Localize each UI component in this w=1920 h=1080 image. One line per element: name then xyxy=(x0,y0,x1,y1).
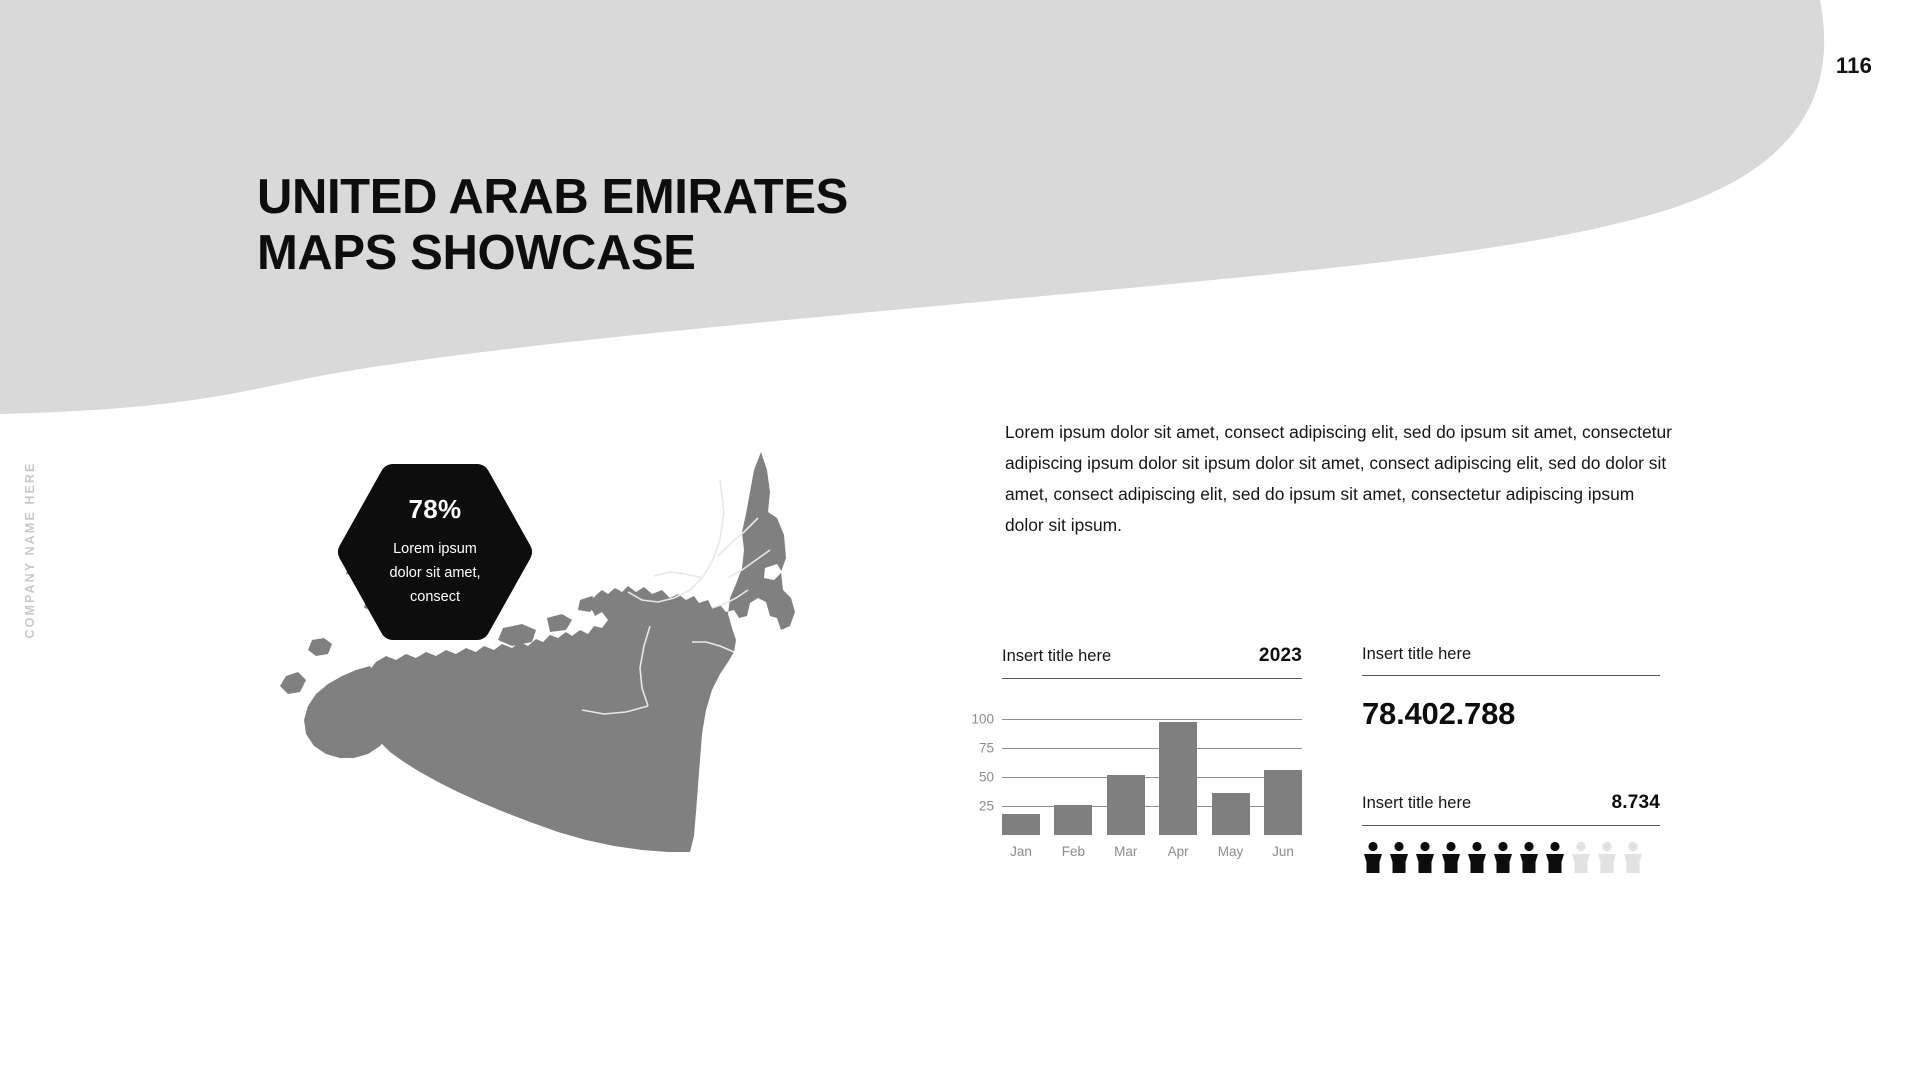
stat-card-title: Insert title here xyxy=(1362,645,1471,664)
y-axis-tick: 75 xyxy=(954,740,994,755)
person-icon-empty xyxy=(1622,841,1644,873)
slide-canvas: 116 COMPANY NAME HERE UNITED ARAB EMIRAT… xyxy=(0,0,1920,1080)
bar-chart-plot: 255075100 xyxy=(1002,707,1302,835)
person-icon-empty xyxy=(1570,841,1592,873)
pictogram-figures xyxy=(1362,841,1660,873)
x-axis-tick: Jan xyxy=(1002,844,1040,859)
bar-chart-title: Insert title here xyxy=(1002,647,1111,666)
bar-column[interactable] xyxy=(1212,707,1250,835)
bar[interactable] xyxy=(1002,814,1040,835)
pictogram-title: Insert title here xyxy=(1362,794,1471,813)
bar[interactable] xyxy=(1107,775,1145,836)
person-icon-filled xyxy=(1492,841,1514,873)
person-icon-filled xyxy=(1414,841,1436,873)
badge-percent: 78% xyxy=(409,494,462,525)
person-icon-filled xyxy=(1362,841,1384,873)
bar-column[interactable] xyxy=(1159,707,1197,835)
stat-card-header: Insert title here xyxy=(1362,645,1660,676)
bar-column[interactable] xyxy=(1054,707,1092,835)
bar[interactable] xyxy=(1264,770,1302,835)
bar-column[interactable] xyxy=(1264,707,1302,835)
person-icon-filled xyxy=(1466,841,1488,873)
title-line-2: MAPS SHOWCASE xyxy=(257,226,848,282)
bar-chart-header: Insert title here 2023 xyxy=(1002,645,1302,679)
x-axis-tick: Feb xyxy=(1054,844,1092,859)
x-axis-tick: Jun xyxy=(1264,844,1302,859)
stat-card[interactable]: Insert title here 78.402.788 xyxy=(1362,645,1660,732)
bar-column[interactable] xyxy=(1002,707,1040,835)
bar-chart-year: 2023 xyxy=(1259,645,1302,667)
page-number: 116 xyxy=(1836,53,1872,79)
bar-chart-card[interactable]: Insert title here 2023 255075100 JanFebM… xyxy=(1002,645,1302,859)
x-axis-tick: Mar xyxy=(1107,844,1145,859)
bar-chart-x-axis: JanFebMarAprMayJun xyxy=(1002,844,1302,859)
pictogram-value: 8.734 xyxy=(1611,792,1660,814)
badge-caption-line-2: dolor sit amet, xyxy=(389,562,480,586)
badge-caption-line-3: consect xyxy=(389,586,480,610)
bar-column[interactable] xyxy=(1107,707,1145,835)
y-axis-tick: 50 xyxy=(954,769,994,784)
page-title: UNITED ARAB EMIRATES MAPS SHOWCASE xyxy=(257,170,848,282)
body-paragraph: Lorem ipsum dolor sit amet, consect adip… xyxy=(1005,417,1673,541)
badge-caption: Lorem ipsum dolor sit amet, consect xyxy=(389,538,480,610)
person-icon-filled xyxy=(1388,841,1410,873)
x-axis-tick: Apr xyxy=(1159,844,1197,859)
badge-caption-line-1: Lorem ipsum xyxy=(389,538,480,562)
y-axis-tick: 25 xyxy=(954,798,994,813)
person-icon-filled xyxy=(1544,841,1566,873)
pictogram-header: Insert title here 8.734 xyxy=(1362,792,1660,826)
bar[interactable] xyxy=(1212,793,1250,835)
company-name-label: COMPANY NAME HERE xyxy=(23,462,37,639)
bar-chart-bars xyxy=(1002,707,1302,835)
bar[interactable] xyxy=(1159,722,1197,835)
person-icon-empty xyxy=(1596,841,1618,873)
y-axis-tick: 100 xyxy=(954,711,994,726)
x-axis-tick: May xyxy=(1212,844,1250,859)
stat-hexagon-badge[interactable]: 78% Lorem ipsum dolor sit amet, consect xyxy=(325,457,545,647)
person-icon-filled xyxy=(1518,841,1540,873)
person-icon-filled xyxy=(1440,841,1462,873)
title-line-1: UNITED ARAB EMIRATES xyxy=(257,170,848,226)
company-name-rail: COMPANY NAME HERE xyxy=(0,430,60,670)
bar[interactable] xyxy=(1054,805,1092,835)
stat-card-value: 78.402.788 xyxy=(1362,696,1660,732)
pictogram-card[interactable]: Insert title here 8.734 xyxy=(1362,792,1660,873)
